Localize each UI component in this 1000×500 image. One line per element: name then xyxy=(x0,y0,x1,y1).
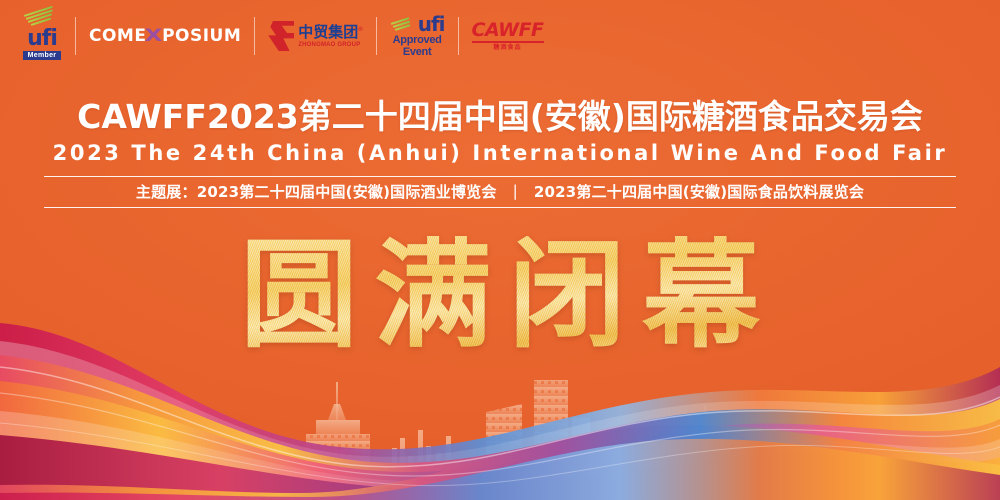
logo-cawff: CAWFF 糖酒食品 xyxy=(472,10,544,62)
logo-divider xyxy=(254,17,255,55)
ufi-approved-line1: Approved xyxy=(393,35,442,47)
cawff-wordmark: CAWFF xyxy=(472,21,544,43)
logo-divider xyxy=(376,17,377,55)
theme-exhibition-right: 2023第二十四届中国(安徽)国际食品饮料展览会 xyxy=(534,181,864,202)
color-wave-ribbon-graphic xyxy=(0,315,1000,500)
headline-block: CAWFF2023第二十四届中国(安徽)国际糖酒食品交易会 2023 The 2… xyxy=(0,98,1000,208)
theme-exhibition-left: 主题展：2023第二十四届中国(安徽)国际酒业博览会 xyxy=(136,181,497,202)
comexposium-part2: POSIUM xyxy=(162,26,241,46)
sponsor-logo-bar: ufi Member COMEXPOSIUM 中贸集团® ZHONGMAO GR… xyxy=(22,8,544,64)
logo-ufi-member: ufi Member xyxy=(22,10,62,62)
comexposium-x-icon: X xyxy=(145,26,163,46)
comexposium-part1: COME xyxy=(89,26,146,46)
logo-ufi-approved-event: ufi Approved Event xyxy=(390,10,445,62)
ufi-approved-wordmark: ufi xyxy=(418,14,445,35)
zhongmao-en-name: ZHONGMAO GROUP xyxy=(298,42,362,48)
wing-icon xyxy=(22,13,62,27)
registered-mark-icon: ® xyxy=(358,27,362,33)
page-title-cn: CAWFF2023第二十四届中国(安徽)国际糖酒食品交易会 xyxy=(0,98,1000,136)
zhongmao-cn-name: 中贸集团 xyxy=(298,24,358,41)
logo-divider xyxy=(75,17,76,55)
zhongmao-emblem-icon xyxy=(268,21,294,51)
theme-divider: | xyxy=(513,182,518,200)
page-title-en: 2023 The 24th China (Anhui) Internationa… xyxy=(0,141,1000,165)
logo-divider xyxy=(458,17,459,55)
ufi-wordmark: ufi xyxy=(27,28,57,50)
cawff-cn-label: 糖酒食品 xyxy=(494,45,522,51)
event-banner: ufi Member COMEXPOSIUM 中贸集团® ZHONGMAO GR… xyxy=(0,0,1000,500)
ufi-member-label: Member xyxy=(23,51,62,60)
logo-comexposium: COMEXPOSIUM xyxy=(89,10,241,62)
theme-exhibitions-bar: 主题展：2023第二十四届中国(安徽)国际酒业博览会 | 2023第二十四届中国… xyxy=(44,176,956,208)
ufi-approved-line2: Event xyxy=(403,47,431,59)
logo-zhongmao-group: 中贸集团® ZHONGMAO GROUP xyxy=(268,10,362,62)
wing-icon xyxy=(390,22,416,34)
